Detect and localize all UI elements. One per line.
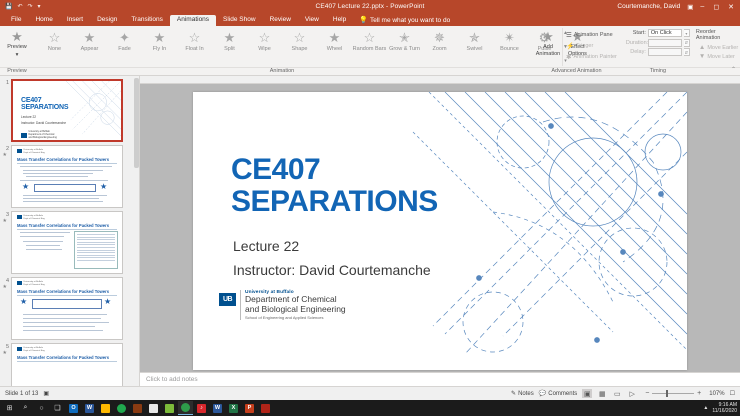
clock-date: 11/16/2020	[712, 408, 737, 414]
animation-star-icon: ★	[0, 152, 9, 158]
animation-painter-label: Animation Painter	[573, 54, 616, 60]
notes-label: Notes	[518, 391, 534, 397]
animation-label: Bounce	[500, 46, 519, 52]
tray-expand-icon[interactable]: ▲	[703, 405, 708, 411]
fit-to-window-icon[interactable]: ☐	[730, 390, 735, 397]
animation-painter-button[interactable]: ✱ Animation Painter	[563, 52, 620, 62]
outlook-taskbar-icon[interactable]: O	[66, 401, 81, 415]
ribbon: ★ Preview ▾ Preview ☆ None ★ Appear ✦	[0, 26, 740, 76]
animation-bounce[interactable]: ✴ Bounce	[492, 28, 527, 52]
animation-label: Float In	[185, 46, 203, 52]
star-icon: ☆	[364, 31, 376, 44]
delay-label: Delay:	[626, 49, 646, 55]
preview-star-icon: ★	[11, 30, 23, 43]
ribbon-group-timing: Start: On Click ▾ Duration: ⇵ Delay: ⇵ T…	[623, 26, 693, 75]
animation-label: Swivel	[467, 46, 483, 52]
thumbnail-slide-1[interactable]: CE407 SEPARATIONS Lecture 22 Instructor:…	[11, 79, 123, 142]
star-icon: ✭	[399, 31, 410, 44]
app-taskbar-icon-4[interactable]	[178, 401, 193, 415]
ub-mark-icon	[17, 149, 22, 153]
animation-appear[interactable]: ★ Appear	[72, 28, 107, 52]
delay-stepper[interactable]: ⇵	[684, 48, 690, 56]
collapse-ribbon-icon[interactable]: ⌃	[731, 66, 736, 73]
app-taskbar-icon-2[interactable]	[146, 401, 161, 415]
move-later-label: Move Later	[707, 54, 735, 60]
star-icon: ☆	[189, 31, 201, 44]
word-doc-taskbar-icon[interactable]: W	[210, 401, 225, 415]
thumbnail-title: Mass Transfer Correlations for Packed To…	[17, 289, 109, 294]
minimize-button[interactable]: –	[700, 3, 704, 10]
ub-mark-icon	[21, 133, 27, 138]
animation-label: Random Bars	[353, 46, 387, 52]
zoom-in-button[interactable]: +	[694, 390, 704, 397]
star-icon: ★	[84, 31, 96, 44]
animation-label: Shape	[292, 46, 308, 52]
star-icon: ★	[224, 31, 236, 44]
star-icon: ★	[329, 31, 341, 44]
delay-input[interactable]	[648, 48, 682, 56]
excel-taskbar-icon[interactable]: X	[226, 401, 241, 415]
slide-title[interactable]: CE407 SEPARATIONS	[231, 154, 438, 217]
tab-animations[interactable]: Animations	[170, 15, 216, 26]
app-taskbar-icon-3[interactable]	[162, 401, 177, 415]
trigger-button[interactable]: ⚡ Trigger	[563, 41, 620, 51]
thumbnail-subtitle-2: Instructor: David Courtemanche	[21, 121, 66, 125]
tab-design[interactable]: Design	[90, 15, 124, 26]
star-icon: ✴	[504, 31, 515, 44]
account-avatar[interactable]: ▣	[687, 3, 693, 11]
work-area: 1 CE407 SEPARATIONS Lecture 22 Instructo…	[0, 76, 740, 386]
animation-swivel[interactable]: ✯ Swivel	[457, 28, 492, 52]
animation-random-bars[interactable]: ☆ Random Bars	[352, 28, 387, 52]
star-icon: ☆	[49, 31, 61, 44]
thumbnail-logo: University at Buffalo Department of Chem…	[21, 131, 57, 140]
start-button[interactable]: ⊞	[2, 401, 17, 415]
thumbnail-title: Mass Transfer Correlations for Packed To…	[17, 223, 109, 228]
ribbon-group-preview: ★ Preview ▾ Preview	[0, 26, 34, 75]
animation-label: Appear	[81, 46, 99, 52]
thumbnail-equation-box	[32, 299, 102, 309]
thumbnail-number: 5 ★	[0, 343, 11, 356]
preview-group-label: Preview	[0, 67, 34, 75]
thumbnail-logo-dept2: and Biological Engineering	[29, 137, 57, 140]
thumbnail-title: Mass Transfer Correlations for Packed To…	[17, 355, 109, 360]
thumbnail-item-2[interactable]: 2 ★ University at BuffaloDept of Chemica…	[0, 142, 139, 208]
title-bar: 💾 ↶ ↷ ▾ CE407 Lecture 22.pptx - PowerPoi…	[0, 0, 740, 13]
trigger-icon: ⚡	[566, 42, 574, 50]
advanced-animation-group-label: Advanced Animation	[530, 67, 623, 75]
animation-label: Fly In	[153, 46, 166, 52]
thumbnail-number: 1	[0, 79, 11, 86]
tab-slide-show[interactable]: Slide Show	[216, 15, 263, 26]
zoom-level[interactable]: 107%	[709, 391, 724, 397]
animation-float-in[interactable]: ☆ Float In	[177, 28, 212, 52]
animation-star-marker-icon: ★	[20, 298, 27, 306]
star-icon: ☆	[294, 31, 306, 44]
windows-taskbar: ⊞ ⌕ ○ ❑ O W ♪ W X P ▲ 9:16 AM 11/16/2020	[0, 400, 740, 416]
animation-gallery[interactable]: ☆ None ★ Appear ✦ Fade ★ Fly In ☆ Floa	[37, 28, 562, 52]
add-animation-star-icon: ★	[542, 30, 554, 43]
horizontal-ruler	[140, 76, 740, 84]
accessibility-icon[interactable]: ▣	[43, 390, 49, 397]
animation-label: Grow & Turn	[389, 46, 420, 52]
start-dropdown-icon[interactable]: ▾	[684, 29, 690, 37]
animation-wipe[interactable]: ☆ Wipe	[247, 28, 282, 52]
thumbnail-data-table	[74, 231, 118, 269]
tab-view[interactable]: View	[298, 15, 326, 26]
slide-editor: CE407 SEPARATIONS Lecture 22 Instructor:…	[140, 76, 740, 386]
thumbnail-subtitle-1: Lecture 22	[21, 115, 36, 119]
status-bar: Slide 1 of 13 ▣ ✎ Notes 💬 Comments ▣ ▦ ▭…	[0, 386, 740, 400]
animation-star-marker-icon: ★	[22, 183, 29, 191]
tab-file[interactable]: File	[4, 15, 28, 26]
current-slide[interactable]: CE407 SEPARATIONS Lecture 22 Instructor:…	[193, 92, 687, 370]
logo-school-name: School of Engineering and Applied Scienc…	[245, 315, 346, 320]
close-button[interactable]: ✕	[728, 3, 734, 11]
add-animation-button[interactable]: ★ Add Animation	[533, 28, 563, 58]
tell-me-search[interactable]: 💡 Tell me what you want to do	[353, 14, 456, 26]
thumbnail-item-4[interactable]: 4 ★ University at BuffaloDept of Chemica…	[0, 274, 139, 340]
animation-label: Fade	[118, 46, 131, 52]
thumbnail-scrollbar[interactable]	[134, 76, 139, 386]
thumbnail-title: CE407 SEPARATIONS	[21, 97, 68, 112]
tab-insert[interactable]: Insert	[60, 15, 90, 26]
move-later-icon: ▼	[699, 53, 705, 60]
animation-star-marker-icon: ★	[100, 183, 107, 191]
slideshow-button[interactable]: ▷	[627, 389, 637, 398]
ub-mark-icon: UB	[219, 293, 236, 306]
ub-mark-icon	[17, 215, 22, 219]
search-icon[interactable]: ⌕	[18, 401, 33, 415]
chrome-taskbar-icon[interactable]	[114, 401, 129, 415]
star-icon: ✯	[469, 31, 480, 44]
animation-shape[interactable]: ☆ Shape	[282, 28, 317, 52]
media-taskbar-icon[interactable]: ♪	[194, 401, 209, 415]
thumbnail-header-text: University at BuffaloDept of Chemical En…	[24, 215, 45, 220]
thumbnail-rule	[17, 163, 117, 164]
slide-counter[interactable]: Slide 1 of 13	[5, 391, 38, 397]
thumbnail-equation-box	[34, 184, 96, 192]
trigger-label: Trigger	[576, 43, 593, 49]
tab-help[interactable]: Help	[326, 15, 353, 26]
thumbnail-number: 3 ★	[0, 211, 11, 224]
shield-taskbar-icon[interactable]	[258, 401, 273, 415]
zoom-slider-handle[interactable]	[666, 390, 669, 397]
clock[interactable]: 9:16 AM 11/16/2020	[712, 402, 737, 415]
animation-group-label: Animation	[34, 67, 530, 75]
animation-label: Wipe	[258, 46, 271, 52]
animation-label: None	[48, 46, 61, 52]
logo-dept-line2: and Biological Engineering	[245, 305, 346, 315]
animation-pane-icon: ☰	[566, 31, 572, 39]
notes-button[interactable]: ✎ Notes	[511, 390, 534, 397]
task-view-icon[interactable]: ❑	[50, 401, 65, 415]
thumbnail-slide-4[interactable]: University at BuffaloDept of Chemical En…	[11, 277, 123, 340]
zoom-slider-track[interactable]	[652, 393, 694, 394]
thumbnail-item-1[interactable]: 1 CE407 SEPARATIONS Lecture 22 Instructo…	[0, 76, 139, 142]
thumbnail-header-text: University at BuffaloDept of Chemical En…	[24, 149, 45, 154]
zoom-out-button[interactable]: −	[642, 390, 652, 397]
ribbon-group-animation: ☆ None ★ Appear ✦ Fade ★ Fly In ☆ Floa	[34, 26, 530, 75]
explorer-taskbar-icon[interactable]	[98, 401, 113, 415]
thumbnail-item-5[interactable]: 5 ★ University at BuffaloDept of Chemica…	[0, 340, 139, 386]
animation-star-icon: ★	[0, 350, 9, 356]
duration-input[interactable]	[648, 39, 682, 47]
comment-icon: 💬	[539, 390, 546, 397]
slide-sorter-button[interactable]: ▦	[597, 389, 607, 398]
comments-button[interactable]: 💬 Comments	[539, 390, 578, 397]
animation-wheel[interactable]: ★ Wheel	[317, 28, 352, 52]
move-later-button[interactable]: ▼ Move Later	[696, 52, 738, 61]
thumbnail-rule	[17, 295, 117, 296]
powerpoint-taskbar-icon[interactable]: P	[242, 401, 257, 415]
word-taskbar-icon[interactable]: W	[82, 401, 97, 415]
thumbnail-rule	[17, 229, 117, 230]
thumbnail-slide-2[interactable]: University at BuffaloDept of Chemical En…	[11, 145, 123, 208]
notes-icon: ✎	[511, 390, 516, 397]
ribbon-tab-strip: File Home Insert Design Transitions Anim…	[0, 13, 740, 26]
zoom-slider[interactable]: − +	[642, 390, 704, 397]
animation-split[interactable]: ★ Split	[212, 28, 247, 52]
slide-subtitle-instructor[interactable]: Instructor: David Courtemanche	[233, 262, 431, 278]
star-icon: ✦	[119, 31, 130, 44]
tab-transitions[interactable]: Transitions	[124, 15, 170, 26]
thumbnail-title-line1: CE407	[21, 97, 68, 104]
cortana-icon[interactable]: ○	[34, 401, 49, 415]
start-label: Start:	[626, 30, 646, 36]
notes-pane[interactable]: Click to add notes	[140, 372, 740, 386]
tab-home[interactable]: Home	[28, 15, 59, 26]
thumbnail-slide-3[interactable]: University at BuffaloDept of Chemical En…	[11, 211, 123, 274]
move-earlier-button[interactable]: ▲ Move Earlier	[696, 43, 740, 52]
animation-grow-and-turn[interactable]: ✭ Grow & Turn	[387, 28, 422, 52]
star-icon: ★	[154, 31, 166, 44]
ribbon-group-advanced-animation: ★ Add Animation ☰ Animation Pane ⚡ Trigg…	[530, 26, 623, 75]
slide-title-line2: SEPARATIONS	[231, 186, 438, 218]
duration-label: Duration:	[626, 40, 646, 46]
slide-background-art	[193, 92, 687, 370]
tab-review[interactable]: Review	[263, 15, 298, 26]
timing-group-label: Timing	[623, 67, 693, 75]
animation-label: Split	[224, 46, 235, 52]
animation-label: Wheel	[327, 46, 343, 52]
system-tray[interactable]: ▲ 9:16 AM 11/16/2020	[703, 402, 740, 415]
thumbnail-number: 2 ★	[0, 145, 11, 158]
preview-button[interactable]: ★ Preview ▾	[3, 28, 31, 59]
animation-none[interactable]: ☆ None	[37, 28, 72, 52]
ub-mark-icon	[17, 347, 22, 351]
app-taskbar-icon-1[interactable]	[130, 401, 145, 415]
lightbulb-icon: 💡	[359, 16, 368, 24]
reorder-animation-title: Reorder Animation	[696, 29, 740, 41]
move-earlier-icon: ▲	[699, 44, 705, 51]
add-animation-label: Add Animation	[533, 44, 563, 58]
tell-me-placeholder: Tell me what you want to do	[370, 17, 450, 24]
animation-pane-button[interactable]: ☰ Animation Pane	[563, 30, 620, 40]
thumbnail-item-3[interactable]: 3 ★ University at BuffaloDept of Chemica…	[0, 208, 139, 274]
thumbnail-slide-5[interactable]: University at BuffaloDept of Chemical En…	[11, 343, 123, 386]
animation-fly-in[interactable]: ★ Fly In	[142, 28, 177, 52]
thumbnail-rule	[17, 361, 117, 362]
comments-label: Comments	[548, 391, 577, 397]
animation-zoom[interactable]: ✵ Zoom	[422, 28, 457, 52]
thumbnail-number: 4 ★	[0, 277, 11, 290]
slide-subtitle-lecture[interactable]: Lecture 22	[233, 238, 299, 254]
animation-pane-label: Animation Pane	[574, 32, 613, 38]
account-name[interactable]: Courtemanche, David	[617, 3, 680, 10]
normal-view-button[interactable]: ▣	[582, 389, 592, 398]
preview-label: Preview	[7, 44, 27, 51]
preview-dropdown-icon[interactable]: ▾	[16, 52, 19, 59]
thumbnail-header-text: University at BuffaloDept of Chemical En…	[24, 347, 45, 352]
thumbnail-title-line2: SEPARATIONS	[21, 104, 68, 111]
reading-view-button[interactable]: ▭	[612, 389, 622, 398]
animation-label: Zoom	[432, 46, 446, 52]
ub-mark-icon	[17, 281, 22, 285]
paintbrush-icon: ✱	[566, 53, 571, 61]
notes-placeholder: Click to add notes	[146, 376, 198, 383]
star-icon: ✵	[434, 31, 445, 44]
thumbnail-title: Mass Transfer Correlations for Packed To…	[17, 157, 109, 162]
animation-fade[interactable]: ✦ Fade	[107, 28, 142, 52]
animation-star-icon: ★	[0, 284, 9, 290]
thumbnail-header-text: University at BuffaloDept of Chemical En…	[24, 281, 45, 286]
star-icon: ☆	[259, 31, 271, 44]
slide-thumbnail-pane[interactable]: 1 CE407 SEPARATIONS Lecture 22 Instructo…	[0, 76, 140, 386]
slide-title-line1: CE407	[231, 154, 438, 186]
thumbnail-scrollbar-handle[interactable]	[134, 78, 139, 168]
move-earlier-label: Move Earlier	[707, 45, 738, 51]
duration-stepper[interactable]: ⇵	[684, 39, 690, 47]
restore-button[interactable]: ◻	[713, 3, 719, 11]
start-select[interactable]: On Click	[648, 29, 682, 37]
university-logo-block[interactable]: UB University at Buffalo Department of C…	[219, 290, 346, 320]
animation-star-icon: ★	[0, 218, 9, 224]
animation-star-marker-icon: ★	[104, 298, 111, 306]
